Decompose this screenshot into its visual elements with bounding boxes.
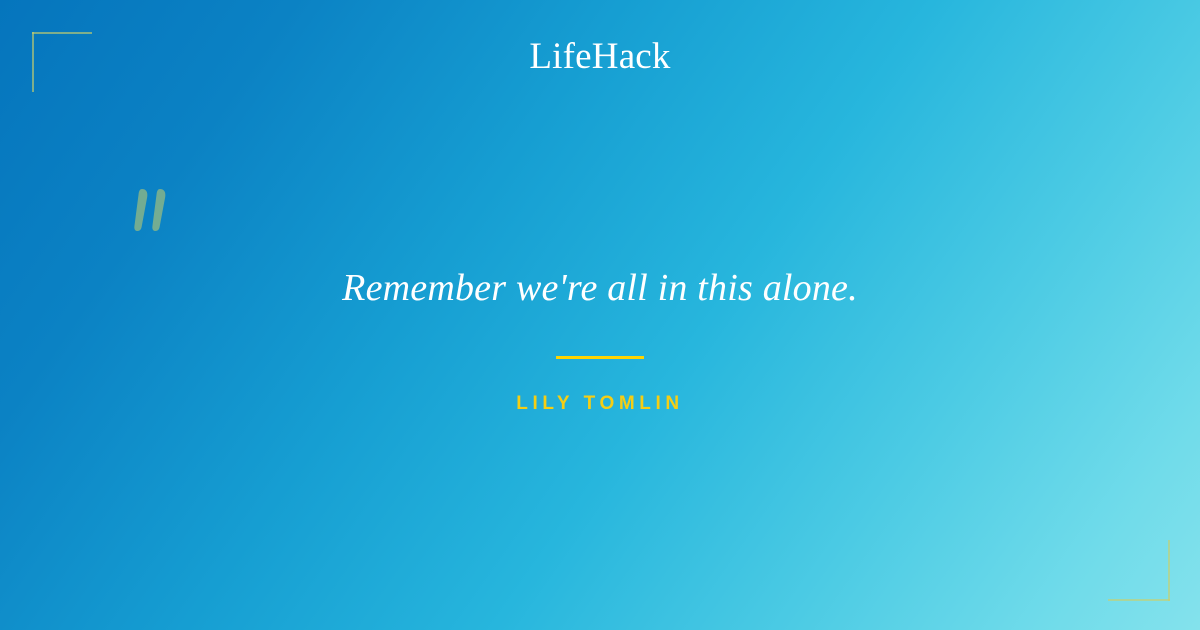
quote-author-wrapper: LILY TOMLIN bbox=[0, 393, 1200, 415]
quote-text: Remember we're all in this alone. bbox=[230, 264, 970, 313]
corner-bracket-top-left-horizontal bbox=[32, 32, 92, 34]
corner-bracket-bottom-right bbox=[1108, 540, 1170, 601]
quote-card: LifeHack Remember we're all in this alon… bbox=[0, 0, 1200, 630]
quote-divider-wrapper bbox=[0, 349, 1200, 367]
quote-block: Remember we're all in this alone. LILY T… bbox=[0, 264, 1200, 415]
quotation-mark-icon bbox=[128, 183, 188, 253]
corner-bracket-bottom-right-vertical bbox=[1168, 540, 1170, 601]
brand-logo: LifeHack bbox=[0, 38, 1200, 75]
quote-divider bbox=[556, 356, 644, 359]
brand-logo-text: LifeHack bbox=[529, 36, 670, 77]
corner-bracket-bottom-right-horizontal bbox=[1108, 599, 1170, 601]
quote-author: LILY TOMLIN bbox=[516, 393, 683, 415]
